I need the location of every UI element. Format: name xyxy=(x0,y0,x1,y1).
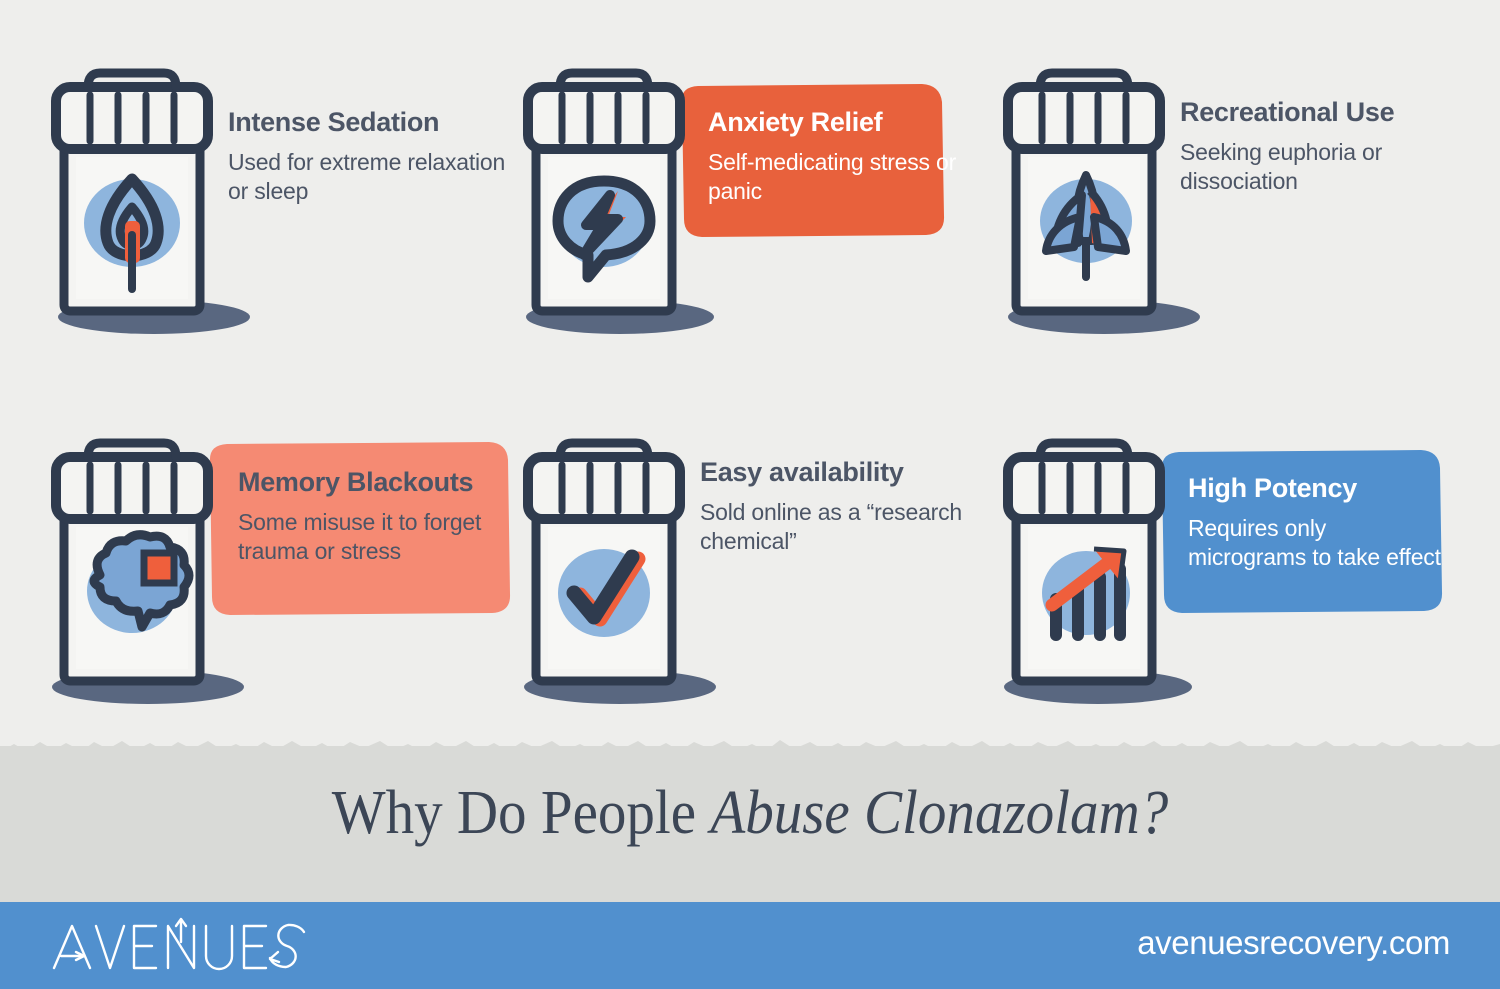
avenues-logo[interactable] xyxy=(48,916,338,978)
card-text-5: Easy availability Sold online as a “rese… xyxy=(700,457,970,557)
pill-bottle-illustration-3 xyxy=(998,65,1188,335)
card-recreational-use: Recreational Use Seeking euphoria or dis… xyxy=(980,55,1470,365)
page-title: Why Do People Abuse Clonazolam? xyxy=(60,778,1440,849)
card-subtext: Some misuse it to forget trauma or stres… xyxy=(238,508,500,566)
title-plain: Why Do People xyxy=(332,779,711,847)
cards-grid: Intense Sedation Used for extreme relaxa… xyxy=(0,0,1500,740)
card-text-6: High Potency Requires only micrograms to… xyxy=(1188,473,1448,573)
card-anxiety-relief: Anxiety Relief Self-medicating stress or… xyxy=(500,55,990,365)
torn-paper-edge xyxy=(0,718,1500,778)
website-url[interactable]: avenuesrecovery.com xyxy=(1137,924,1450,962)
card-high-potency: High Potency Requires only micrograms to… xyxy=(980,425,1470,735)
card-easy-availability: Easy availability Sold online as a “rese… xyxy=(500,425,990,735)
pill-bottle-illustration-2 xyxy=(518,65,708,335)
card-heading: Memory Blackouts xyxy=(238,467,500,497)
title-italic: Abuse Clonazolam? xyxy=(710,779,1168,847)
pill-bottle-illustration-5 xyxy=(518,435,708,705)
card-heading: High Potency xyxy=(1188,473,1448,503)
card-subtext: Sold online as a “research chemical” xyxy=(700,498,970,556)
card-heading: Easy availability xyxy=(700,457,970,487)
card-subtext: Seeking euphoria or dissociation xyxy=(1180,138,1460,196)
pill-bottle-illustration-1 xyxy=(46,65,236,335)
card-text-2: Anxiety Relief Self-medicating stress or… xyxy=(708,107,966,207)
infographic-root: Intense Sedation Used for extreme relaxa… xyxy=(0,0,1500,989)
card-text-4: Memory Blackouts Some misuse it to forge… xyxy=(238,467,500,567)
pill-bottle-illustration-6 xyxy=(998,435,1188,705)
card-heading: Recreational Use xyxy=(1180,97,1460,127)
card-memory-blackouts: Memory Blackouts Some misuse it to forge… xyxy=(28,425,518,735)
card-subtext: Requires only micrograms to take effect xyxy=(1188,514,1448,572)
card-intense-sedation: Intense Sedation Used for extreme relaxa… xyxy=(28,55,518,365)
footer-bar: avenuesrecovery.com xyxy=(0,902,1500,989)
card-heading: Intense Sedation xyxy=(228,107,518,137)
pill-bottle-illustration-4 xyxy=(46,435,236,705)
card-subtext: Used for extreme relaxation or sleep xyxy=(228,148,518,206)
card-text-1: Intense Sedation Used for extreme relaxa… xyxy=(228,107,518,207)
card-text-3: Recreational Use Seeking euphoria or dis… xyxy=(1180,97,1460,197)
card-subtext: Self-medicating stress or panic xyxy=(708,148,966,206)
card-heading: Anxiety Relief xyxy=(708,107,966,137)
